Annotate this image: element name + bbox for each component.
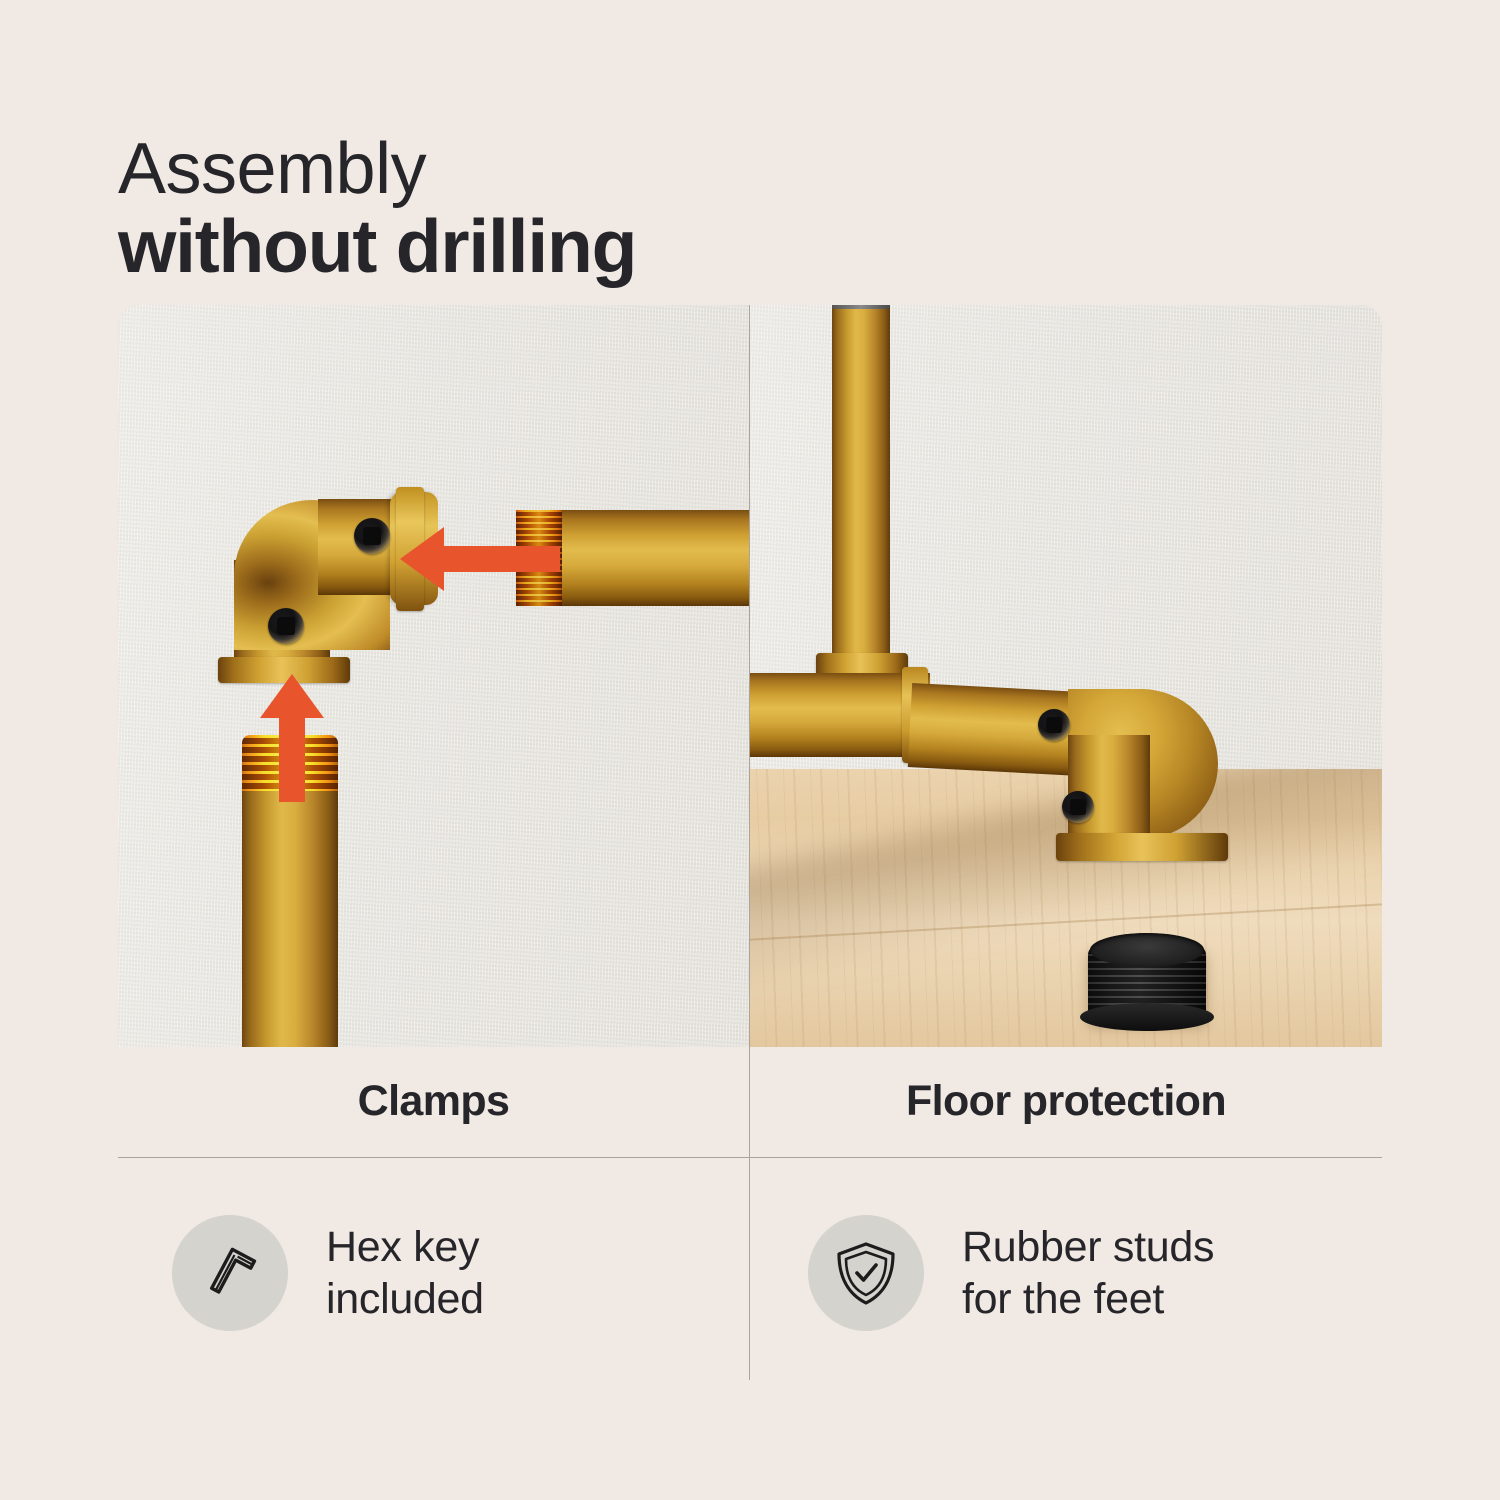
leg-foot-flange (1056, 833, 1228, 861)
page-title: Assembly without drilling (118, 132, 1018, 285)
feature-hex-key-text: Hex key included (326, 1221, 484, 1326)
shield-check-icon-circle (808, 1215, 924, 1331)
title-line-2: without drilling (118, 207, 1018, 285)
feature-rubber-studs: Rubber studs for the feet (808, 1215, 1214, 1331)
grub-screw-lower (268, 608, 304, 644)
wall-background (118, 305, 749, 1047)
grub-screw-upper (354, 518, 390, 554)
feature-rubber-studs-text: Rubber studs for the feet (962, 1221, 1214, 1326)
title-line-1: Assembly (118, 132, 1018, 207)
arrow-left-icon (400, 523, 560, 595)
feature-hex-key: Hex key included (172, 1215, 484, 1331)
upright-pipe-cap (832, 305, 890, 309)
category-label-clamps: Clamps (118, 1077, 749, 1126)
panel-floor-protection (750, 305, 1382, 1047)
hex-key-icon-circle (172, 1215, 288, 1331)
vertical-divider (749, 305, 750, 1380)
infographic-root: Assembly without drilling (0, 0, 1500, 1500)
rubber-stud-top (1090, 933, 1204, 967)
upright-pipe (832, 305, 890, 665)
arrow-up-icon (256, 674, 328, 802)
leg-grub-screw-upper (1038, 709, 1070, 741)
horizontal-divider (118, 1157, 1382, 1158)
shield-check-icon (830, 1237, 902, 1309)
hex-key-icon (194, 1237, 266, 1309)
leg-grub-screw-lower (1062, 791, 1094, 823)
category-label-floor-protection: Floor protection (750, 1077, 1382, 1126)
photo-panels (118, 305, 1382, 1047)
panel-clamps (118, 305, 749, 1047)
vertical-pipe (242, 767, 338, 1047)
rubber-stud-base (1080, 1003, 1214, 1031)
